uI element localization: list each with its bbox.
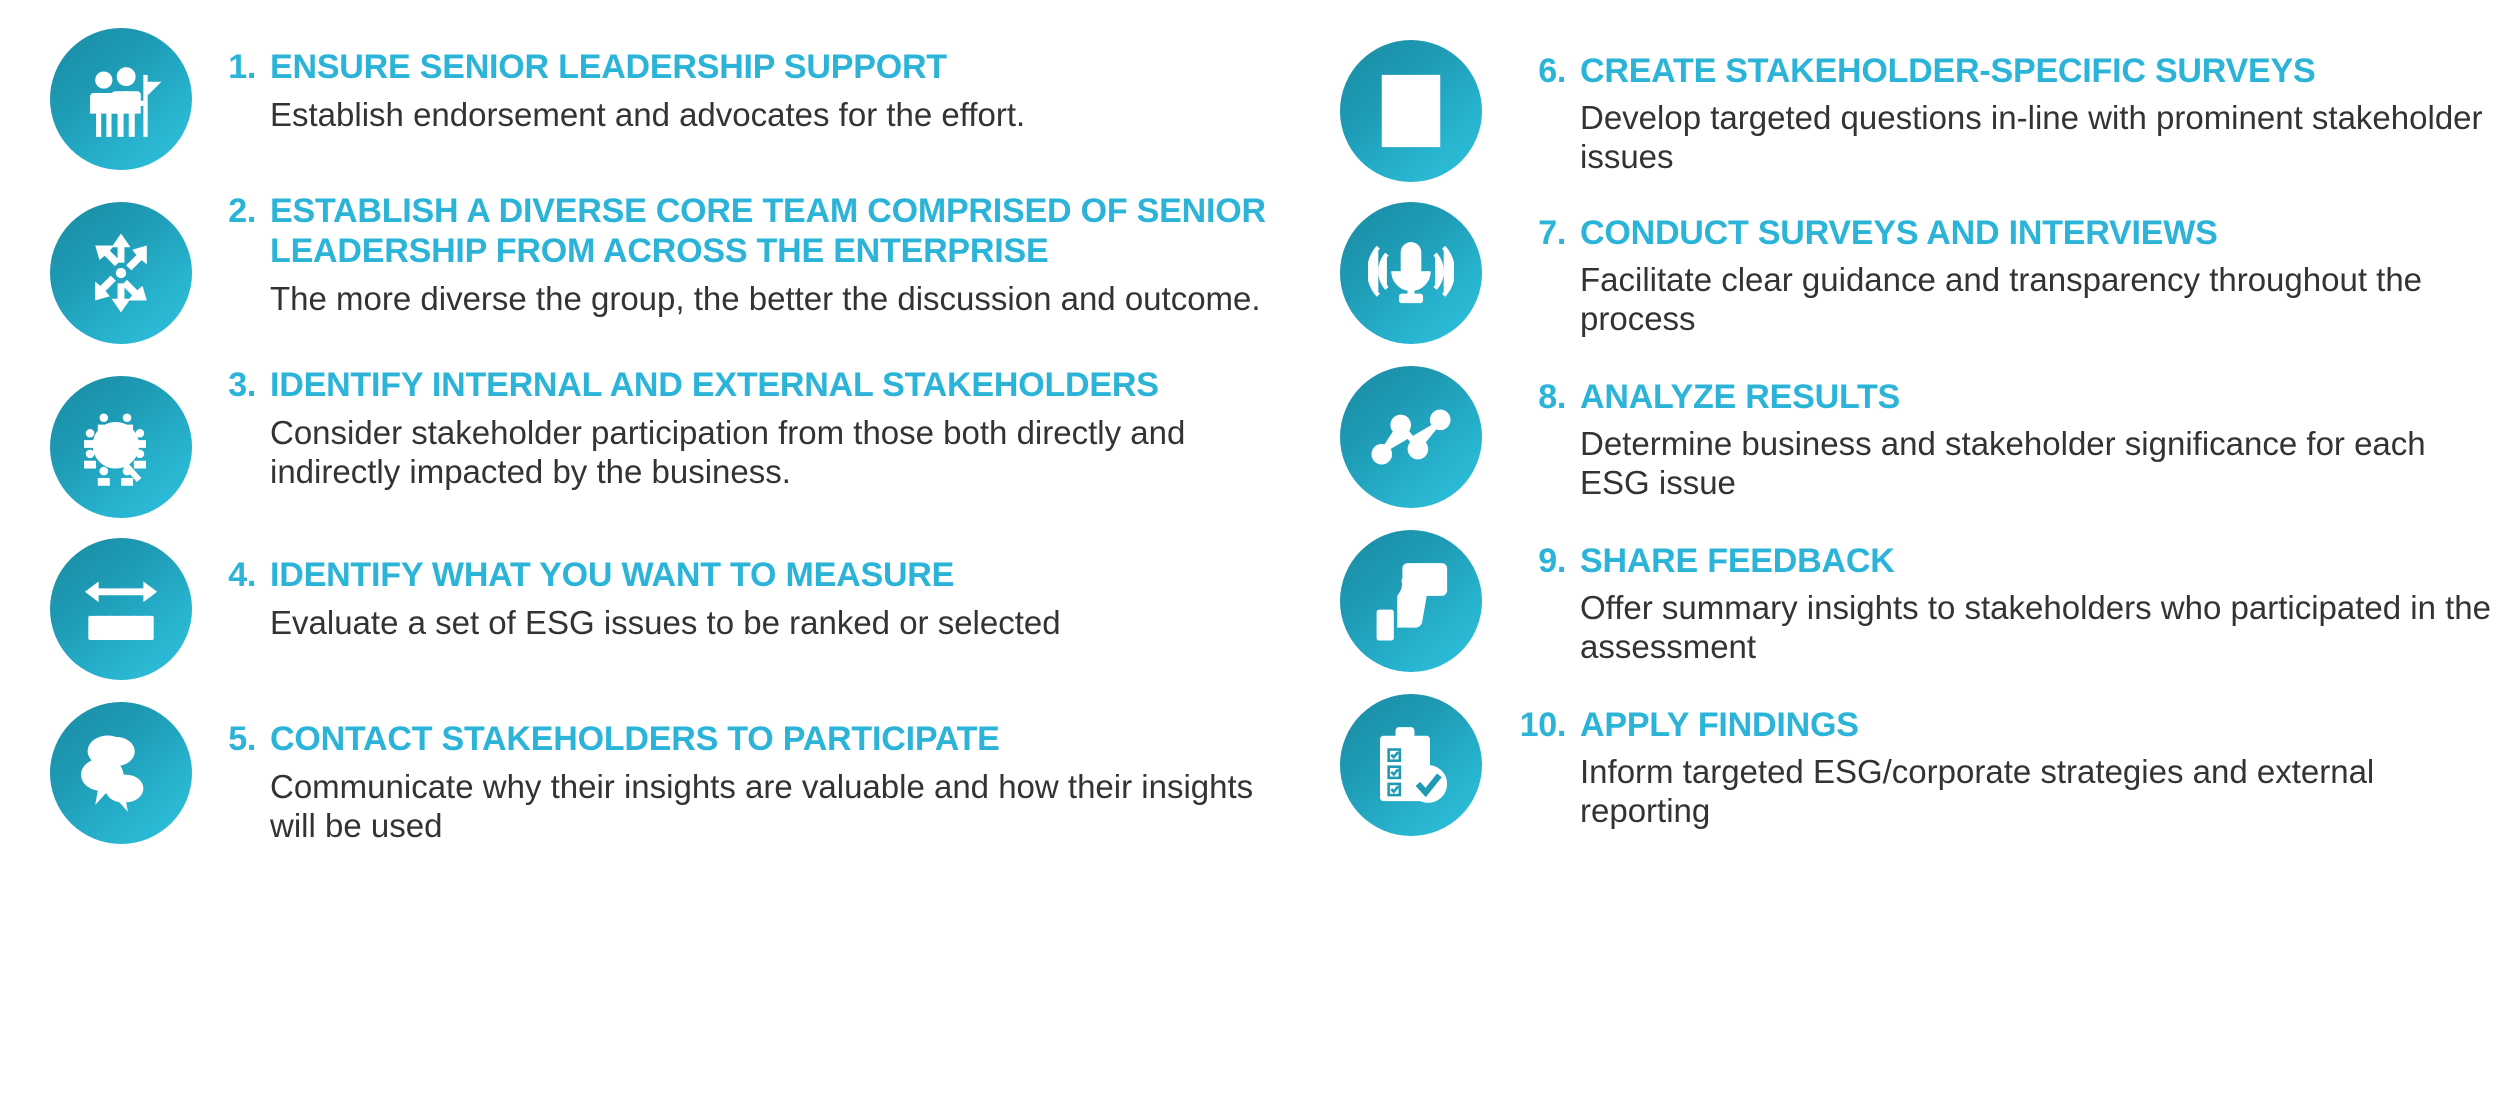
step-heading-5: 5. CONTACT STAKEHOLDERS TO PARTICIPATE <box>210 720 1300 760</box>
step-description-3: Consider stakeholder participation from … <box>270 413 1280 492</box>
step-title-3: IDENTIFY INTERNAL AND EXTERNAL STAKEHOLD… <box>270 366 1159 406</box>
step-title-4: IDENTIFY WHAT YOU WANT TO MEASURE <box>270 556 954 596</box>
step-description-9: Offer summary insights to stakeholders w… <box>1580 588 2500 667</box>
step-heading-1: 1. ENSURE SENIOR LEADERSHIP SUPPORT <box>210 48 1300 88</box>
leadership-people-flag-icon <box>50 28 192 170</box>
step-text-4: 4. IDENTIFY WHAT YOU WANT TO MEASURE Eva… <box>192 538 1300 642</box>
magnifier-over-people-icon <box>50 376 192 518</box>
step-description-2: The more diverse the group, the better t… <box>270 279 1280 319</box>
step-item-1: 1. ENSURE SENIOR LEADERSHIP SUPPORT Esta… <box>50 28 1300 170</box>
step-number-4: 4. <box>210 556 256 595</box>
step-title-8: ANALYZE RESULTS <box>1580 378 1900 418</box>
step-description-10: Inform targeted ESG/corporate strategies… <box>1580 752 2500 831</box>
step-item-2: 2. ESTABLISH A DIVERSE CORE TEAM COMPRIS… <box>50 192 1300 344</box>
step-title-7: CONDUCT SURVEYS AND INTERVIEWS <box>1580 214 2218 254</box>
step-title-5: CONTACT STAKEHOLDERS TO PARTICIPATE <box>270 720 1000 760</box>
step-description-6: Develop targeted questions in-line with … <box>1580 98 2500 177</box>
step-title-1: ENSURE SENIOR LEADERSHIP SUPPORT <box>270 48 947 88</box>
step-text-3: 3. IDENTIFY INTERNAL AND EXTERNAL STAKEH… <box>192 366 1300 492</box>
step-description-8: Determine business and stakeholder signi… <box>1580 424 2500 503</box>
survey-checklist-icon <box>1340 40 1482 182</box>
step-title-6: CREATE STAKEHOLDER-SPECIFIC SURVEYS <box>1580 52 2315 92</box>
step-text-2: 2. ESTABLISH A DIVERSE CORE TEAM COMPRIS… <box>192 192 1300 318</box>
step-description-4: Evaluate a set of ESG issues to be ranke… <box>270 603 1280 643</box>
left-column: 1. ENSURE SENIOR LEADERSHIP SUPPORT Esta… <box>0 0 1300 1114</box>
step-number-3: 3. <box>210 366 256 405</box>
step-item-4: 4. IDENTIFY WHAT YOU WANT TO MEASURE Eva… <box>50 538 1300 680</box>
step-text-6: 6. CREATE STAKEHOLDER-SPECIFIC SURVEYS D… <box>1482 40 2500 177</box>
step-item-10: 10. APPLY FINDINGS Inform targeted ESG/c… <box>1340 694 2500 836</box>
step-text-9: 9. SHARE FEEDBACK Offer summary insights… <box>1482 530 2500 667</box>
step-heading-8: 8. ANALYZE RESULTS <box>1500 378 2500 418</box>
step-description-5: Communicate why their insights are valua… <box>270 767 1280 846</box>
step-number-10: 10. <box>1500 706 1566 745</box>
microphone-icon <box>1340 202 1482 344</box>
step-heading-6: 6. CREATE STAKEHOLDER-SPECIFIC SURVEYS <box>1500 52 2500 92</box>
measure-arrow-ruler-icon <box>50 538 192 680</box>
step-text-1: 1. ENSURE SENIOR LEADERSHIP SUPPORT Esta… <box>192 28 1300 134</box>
right-column: 6. CREATE STAKEHOLDER-SPECIFIC SURVEYS D… <box>1300 0 2500 1114</box>
step-item-5: 5. CONTACT STAKEHOLDERS TO PARTICIPATE C… <box>50 702 1300 846</box>
step-text-10: 10. APPLY FINDINGS Inform targeted ESG/c… <box>1482 694 2500 831</box>
step-title-10: APPLY FINDINGS <box>1580 706 1859 746</box>
step-text-8: 8. ANALYZE RESULTS Determine business an… <box>1482 366 2500 503</box>
step-number-6: 6. <box>1500 52 1566 91</box>
step-item-6: 6. CREATE STAKEHOLDER-SPECIFIC SURVEYS D… <box>1340 40 2500 182</box>
clipboard-check-icon <box>1340 694 1482 836</box>
step-number-5: 5. <box>210 720 256 759</box>
step-heading-3: 3. IDENTIFY INTERNAL AND EXTERNAL STAKEH… <box>210 366 1300 406</box>
ten-step-list-infographic: 1. ENSURE SENIOR LEADERSHIP SUPPORT Esta… <box>0 0 2500 1114</box>
step-item-9: 9. SHARE FEEDBACK Offer summary insights… <box>1340 530 2500 672</box>
step-title-2: ESTABLISH A DIVERSE CORE TEAM COMPRISED … <box>270 192 1270 272</box>
step-text-5: 5. CONTACT STAKEHOLDERS TO PARTICIPATE C… <box>192 702 1300 846</box>
step-item-7: 7. CONDUCT SURVEYS AND INTERVIEWS Facili… <box>1340 202 2500 344</box>
step-number-1: 1. <box>210 48 256 87</box>
step-heading-10: 10. APPLY FINDINGS <box>1500 706 2500 746</box>
step-number-2: 2. <box>210 192 256 231</box>
step-heading-7: 7. CONDUCT SURVEYS AND INTERVIEWS <box>1500 214 2500 254</box>
thumbs-up-comment-icon <box>1340 530 1482 672</box>
step-number-9: 9. <box>1500 542 1566 581</box>
step-description-7: Facilitate clear guidance and transparen… <box>1580 260 2500 339</box>
step-description-1: Establish endorsement and advocates for … <box>270 95 1280 135</box>
step-text-7: 7. CONDUCT SURVEYS AND INTERVIEWS Facili… <box>1482 202 2500 339</box>
step-number-8: 8. <box>1500 378 1566 417</box>
step-number-7: 7. <box>1500 214 1566 253</box>
step-item-8: 8. ANALYZE RESULTS Determine business an… <box>1340 366 2500 508</box>
step-heading-9: 9. SHARE FEEDBACK <box>1500 542 2500 582</box>
network-nodes-chart-icon <box>1340 366 1482 508</box>
multi-direction-arrows-icon <box>50 202 192 344</box>
step-heading-2: 2. ESTABLISH A DIVERSE CORE TEAM COMPRIS… <box>210 192 1300 272</box>
step-title-9: SHARE FEEDBACK <box>1580 542 1895 582</box>
speech-bubbles-icon <box>50 702 192 844</box>
step-heading-4: 4. IDENTIFY WHAT YOU WANT TO MEASURE <box>210 556 1300 596</box>
step-item-3: 3. IDENTIFY INTERNAL AND EXTERNAL STAKEH… <box>50 366 1300 518</box>
